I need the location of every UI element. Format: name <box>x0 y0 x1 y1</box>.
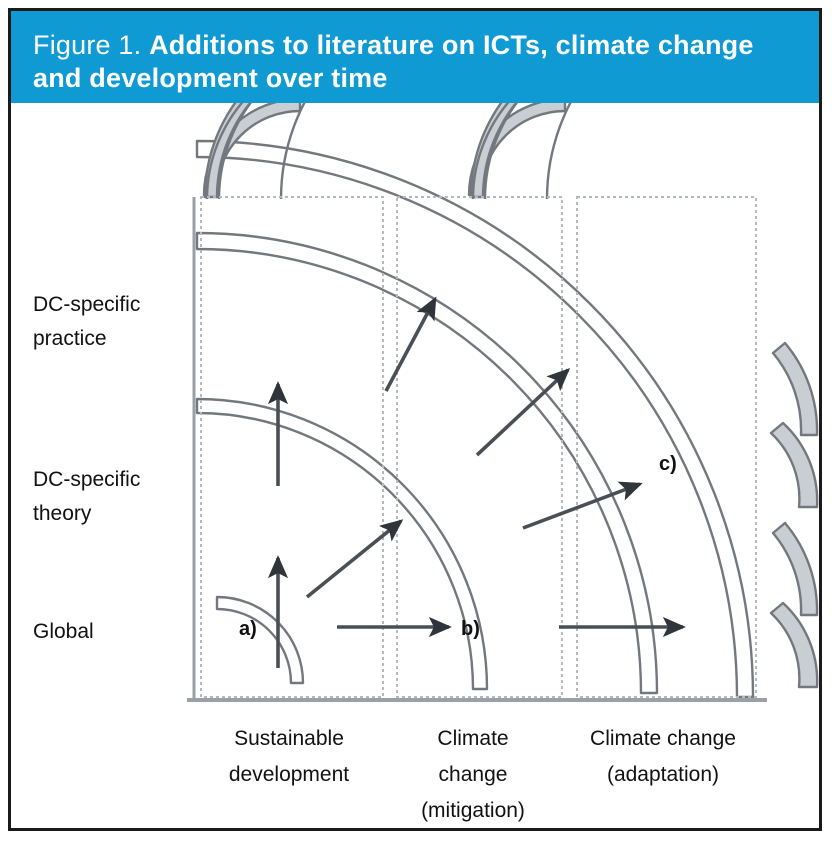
x-cat-sustainable-line2: development <box>229 763 349 786</box>
figure-number: Figure 1. <box>33 30 141 60</box>
arc-fragment-right-3 <box>773 523 817 615</box>
arc-wave-group <box>197 103 817 697</box>
arc-fragment-right-1 <box>773 343 817 435</box>
x-cat-mitigation-line2: change <box>439 763 508 786</box>
arc-outline-top-6 <box>547 103 757 199</box>
diagram-svg: a) b) c) DC-specific practice DC-specifi… <box>11 103 819 831</box>
marker-label-b: b) <box>461 618 480 640</box>
diagram-canvas: a) b) c) DC-specific practice DC-specifi… <box>11 103 819 831</box>
x-cat-adaptation-line2: (adaptation) <box>607 763 719 786</box>
y-axis-tick-labels: DC-specific practice DC-specific theory … <box>33 293 140 643</box>
arc-wave-1 <box>217 597 303 683</box>
figure-banner: Figure 1. Additions to literature on ICT… <box>11 11 819 103</box>
arrow-diagonal-sd-global-to-theory <box>307 521 401 597</box>
x-cat-sustainable-line1: Sustainable <box>234 727 344 750</box>
y-tick-global: Global <box>33 620 94 643</box>
panel-climate-change-adaptation <box>577 197 756 697</box>
figure-title: Additions to literature on ICTs, climate… <box>33 30 754 93</box>
arrow-diagonal-mitigation-theory-to-practice <box>386 299 435 391</box>
marker-label-c: c) <box>659 453 677 475</box>
y-tick-dc-practice-line1: DC-specific <box>33 293 140 316</box>
y-tick-dc-theory-line2: theory <box>33 502 92 525</box>
y-tick-dc-theory-line1: DC-specific <box>33 468 140 491</box>
arc-wave-2 <box>197 399 487 689</box>
figure-card: Figure 1. Additions to literature on ICT… <box>8 8 822 831</box>
y-tick-dc-practice-line2: practice <box>33 327 107 350</box>
figure-caption: Figure 1. Additions to literature on ICT… <box>33 29 793 95</box>
x-cat-adaptation-line1: Climate change <box>590 727 736 750</box>
marker-label-a: a) <box>239 618 257 640</box>
x-axis-category-labels: Sustainable development Climate change (… <box>229 727 736 822</box>
x-cat-mitigation-line1: Climate <box>437 727 508 750</box>
x-cat-mitigation-line3: (mitigation) <box>421 799 525 822</box>
